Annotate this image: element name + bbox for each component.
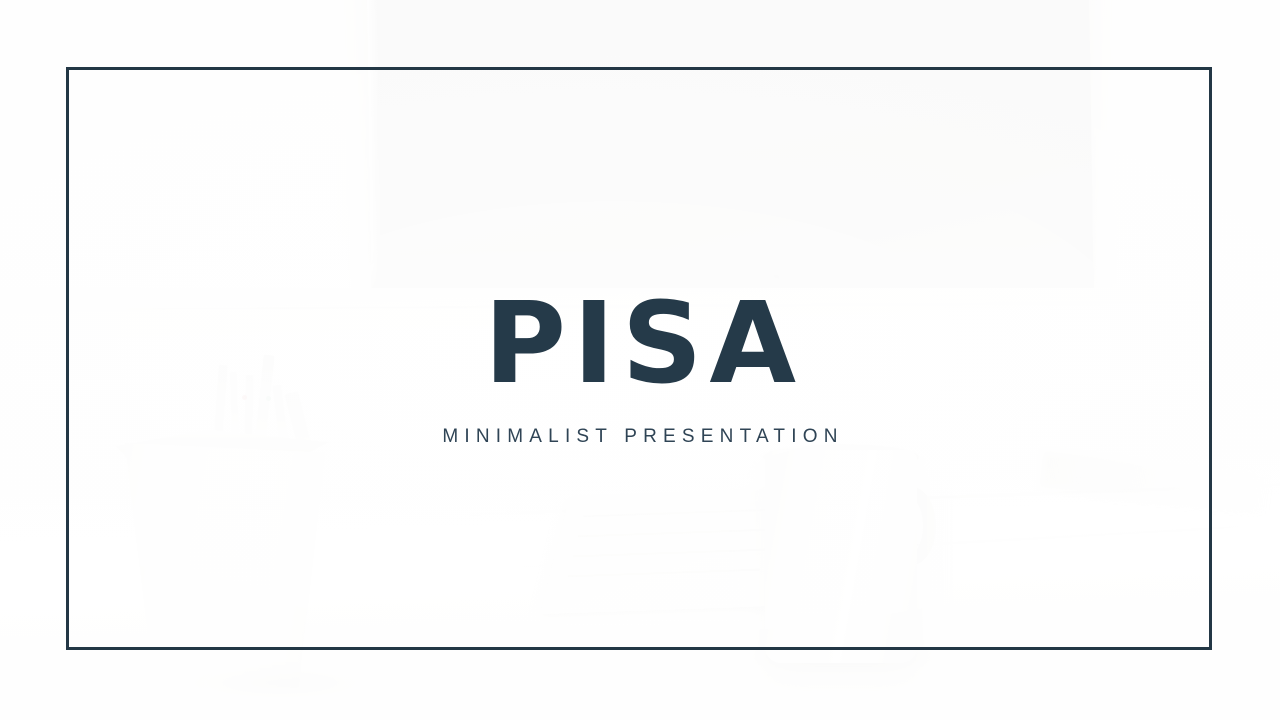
slide-title: PISA xyxy=(0,288,1280,400)
imac-monitor xyxy=(365,0,1094,310)
keyboard xyxy=(540,490,797,614)
desk-shadow xyxy=(160,660,400,706)
presentation-slide: PISA MINIMALIST PRESENTATION xyxy=(0,0,1280,720)
coffee-mug xyxy=(765,450,917,663)
slide-subtitle: MINIMALIST PRESENTATION xyxy=(0,426,1280,448)
keyboard-row xyxy=(578,529,770,538)
keyboard-row xyxy=(568,569,760,578)
title-block: PISA MINIMALIST PRESENTATION xyxy=(0,288,1280,448)
keyboard-row xyxy=(583,509,775,518)
keyboard-row xyxy=(573,549,765,558)
